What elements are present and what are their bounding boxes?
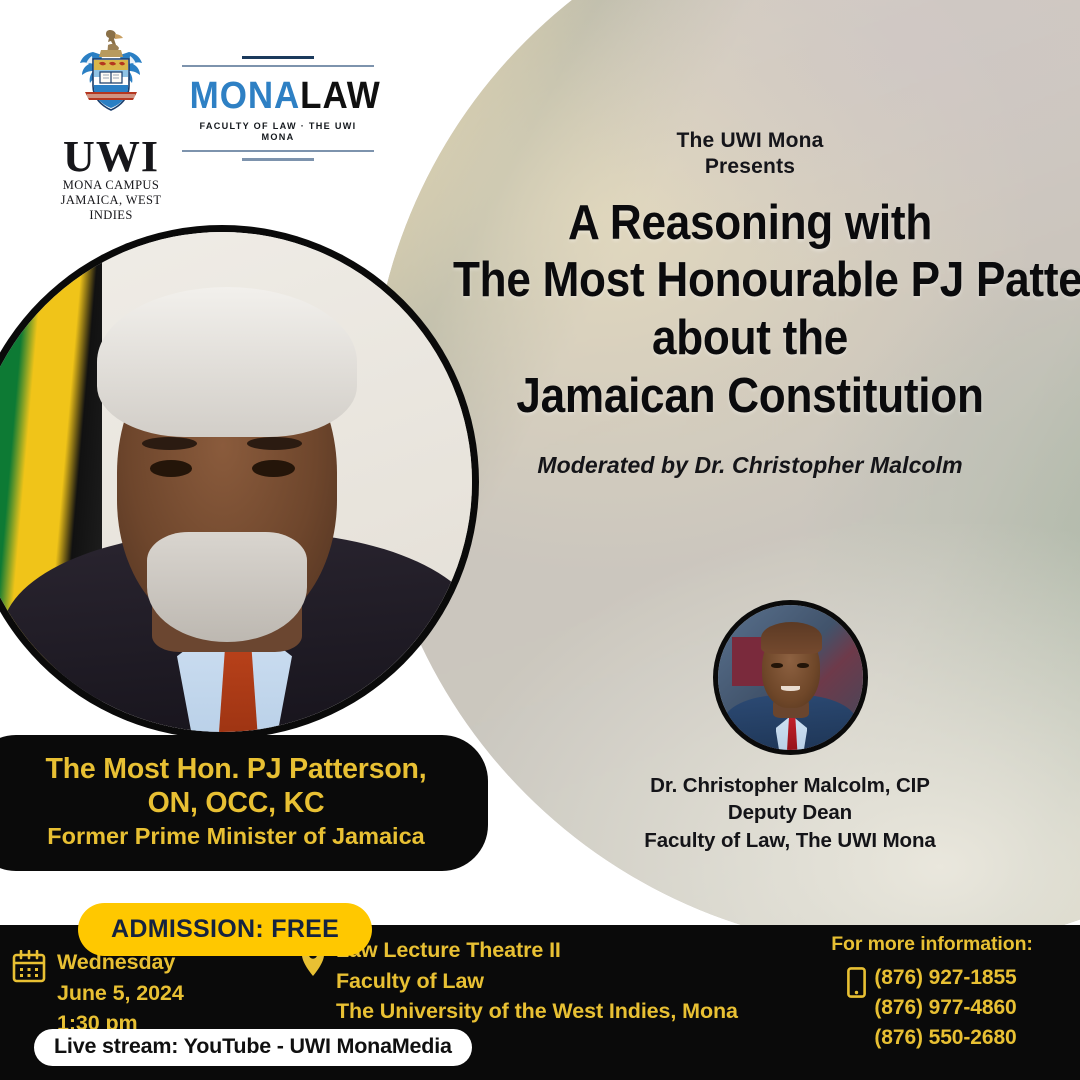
monalaw-word-mona: MONA [190,75,301,117]
portrait-hair [97,287,357,437]
moderator-portrait [718,605,863,750]
phone-number-2: (876) 977-4860 [874,993,1016,1023]
headline-line-4: Jamaican Constitution [453,368,1047,426]
moderator-title: Deputy Dean [610,799,970,826]
calendar-icon [12,950,46,983]
monalaw-rule-upper [182,65,374,67]
monalaw-logo: MONALAW FACULTY OF LAW · THE UWI MONA [182,56,374,161]
uwi-crest-icon [63,26,159,134]
title-block: The UWI Mona Presents A Reasoning with T… [420,128,1080,479]
presents-line-2: Presents [420,154,1080,180]
moderator-caption: Dr. Christopher Malcolm, CIP Deputy Dean… [610,772,970,854]
moderator-affiliation: Faculty of Law, The UWI Mona [610,827,970,854]
venue-line-3: The University of the West Indies, Mona [336,996,738,1027]
moderator-eye-right [797,663,809,668]
moderator-eye-left [771,663,783,668]
monalaw-rule-top [242,56,314,59]
speaker-portrait [0,232,472,732]
moderator-smile [781,686,800,690]
event-poster: UWI MONA CAMPUS JAMAICA, WEST INDIES MON… [0,0,1080,1080]
phone-number-3: (876) 550-2680 [874,1023,1016,1053]
speaker-name-line-1: The Most Hon. PJ Patterson, [10,752,462,786]
phone-number-1: (876) 927-1855 [874,963,1016,993]
monalaw-word-law: LAW [300,75,380,117]
moderator-block: Dr. Christopher Malcolm, CIP Deputy Dean… [610,605,970,854]
event-headline: A Reasoning with The Most Honourable PJ … [453,195,1047,426]
headline-line-3: about the [453,310,1047,368]
livestream-badge[interactable]: Live stream: YouTube - UWI MonaMedia [34,1029,472,1066]
uwi-wordmark: UWI [50,136,172,178]
date-lines: Wednesday June 5, 2024 1:30 pm [57,947,184,1039]
portrait-brow-left [142,437,197,450]
presents-line-1: The UWI Mona [420,128,1080,154]
moderator-name: Dr. Christopher Malcolm, CIP [610,772,970,799]
speaker-role: Former Prime Minister of Jamaica [10,822,462,851]
venue-block: Law Lecture Theatre II Faculty of Law Th… [300,935,820,1027]
monalaw-rule-bottom [242,158,314,161]
monalaw-wordmark: MONALAW [190,76,367,118]
portrait-eye-right [252,460,295,477]
speaker-name-badge: The Most Hon. PJ Patterson, ON, OCC, KC … [0,735,488,871]
date-block: Wednesday June 5, 2024 1:30 pm [12,947,184,1039]
portrait-beard [147,532,307,642]
monalaw-tagline: FACULTY OF LAW · THE UWI MONA [186,121,370,143]
portrait-brow-right [247,437,302,450]
monalaw-rule-lower [182,150,374,152]
speaker-name-line-2: ON, OCC, KC [10,786,462,820]
mobile-phone-icon [847,967,866,998]
venue-lines: Law Lecture Theatre II Faculty of Law Th… [336,935,738,1027]
portrait-eye-left [150,460,193,477]
moderator-hair [761,622,822,654]
event-date: June 5, 2024 [57,978,184,1009]
contact-heading: For more information: [802,933,1062,956]
uwi-logo: UWI MONA CAMPUS JAMAICA, WEST INDIES [50,26,172,224]
venue-line-2: Faculty of Law [336,966,738,997]
phone-numbers: (876) 927-1855 (876) 977-4860 (876) 550-… [874,963,1016,1052]
contact-block: For more information: (876) 927-1855 (87… [802,933,1062,1052]
venue-line-1: Law Lecture Theatre II [336,935,738,966]
headline-line-2: The Most Honourable PJ Patterson [453,252,1047,310]
logo-header: UWI MONA CAMPUS JAMAICA, WEST INDIES MON… [0,0,420,215]
uwi-location-line: JAMAICA, WEST INDIES [50,193,172,224]
uwi-campus-line: MONA CAMPUS [50,178,172,193]
admission-badge: ADMISSION: FREE [78,903,372,956]
moderated-by-line: Moderated by Dr. Christopher Malcolm [420,452,1080,479]
headline-line-1: A Reasoning with [453,195,1047,253]
